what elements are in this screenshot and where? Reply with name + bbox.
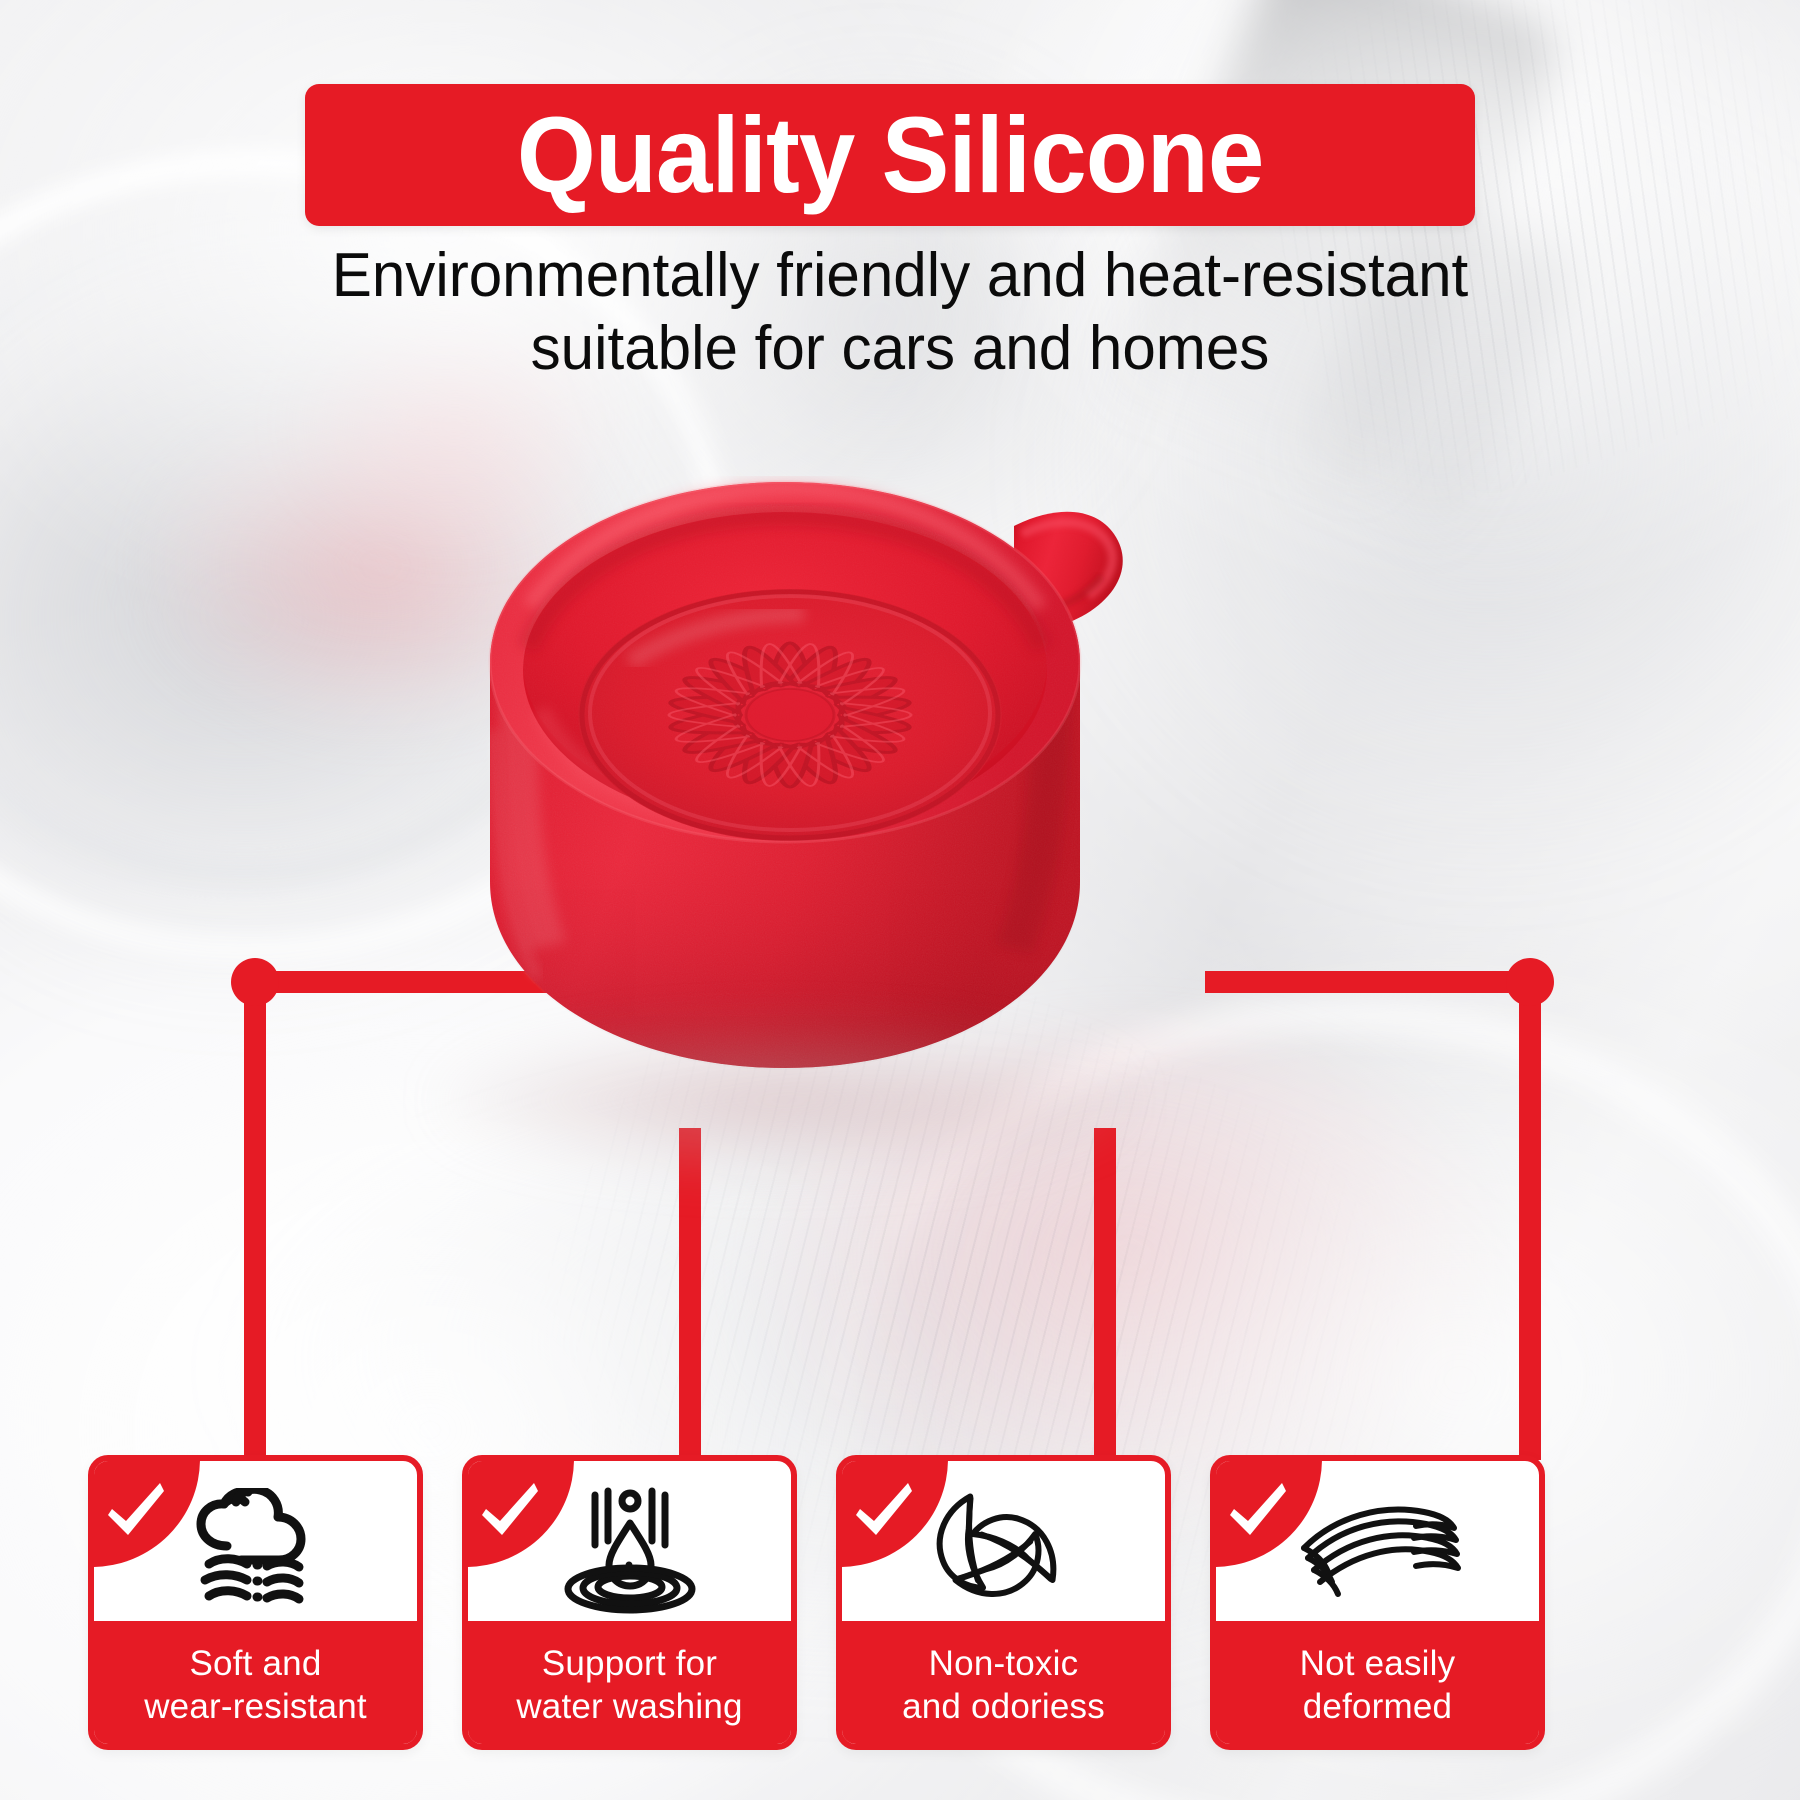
connector-left-dot (231, 958, 279, 1006)
title-banner: Quality Silicone (305, 84, 1475, 226)
feature-label-line2: deformed (1303, 1686, 1452, 1729)
feature-card-label: Support for water washing (462, 1621, 797, 1750)
product-drop-shadow (440, 1030, 1130, 1170)
feature-label-line2: and odoriess (902, 1686, 1105, 1729)
feature-card-label: Not easily deformed (1210, 1621, 1545, 1750)
feature-label-line1: Soft and (190, 1643, 322, 1686)
feature-label-line1: Not easily (1300, 1643, 1456, 1686)
subtitle-line-2: suitable for cars and homes (318, 313, 1482, 386)
feature-card-support-for-water-washing[interactable]: Support for water washing (462, 1455, 797, 1750)
feature-card-label: Non-toxic and odoriess (836, 1621, 1171, 1750)
feature-card-label: Soft and wear-resistant (88, 1621, 423, 1750)
product-image (380, 430, 1190, 1190)
connector-left-vertical (244, 982, 266, 1460)
connector-right-dot (1506, 958, 1554, 1006)
connector-right-horizontal (1205, 971, 1535, 993)
feature-label-line2: water washing (516, 1686, 742, 1729)
feature-card-non-toxic-and-odoriess[interactable]: Non-toxic and odoriess (836, 1455, 1171, 1750)
connector-right-vertical (1519, 982, 1541, 1460)
feature-cards-row: Soft and wear-resistant (0, 1455, 1800, 1800)
page-title: Quality Silicone (517, 101, 1264, 209)
feature-label-line1: Support for (542, 1643, 717, 1686)
feature-card-not-easily-deformed[interactable]: Not easily deformed (1210, 1455, 1545, 1750)
bowl-base-pattern (578, 589, 1002, 841)
feature-card-soft-and-wear-resistant[interactable]: Soft and wear-resistant (88, 1455, 423, 1750)
feature-label-line2: wear-resistant (144, 1686, 367, 1729)
infographic-root: Soft and wear-resistant (0, 0, 1800, 1800)
subtitle: Environmentally friendly and heat-resist… (318, 240, 1482, 385)
feature-label-line1: Non-toxic (929, 1643, 1079, 1686)
subtitle-line-1: Environmentally friendly and heat-resist… (318, 240, 1482, 313)
